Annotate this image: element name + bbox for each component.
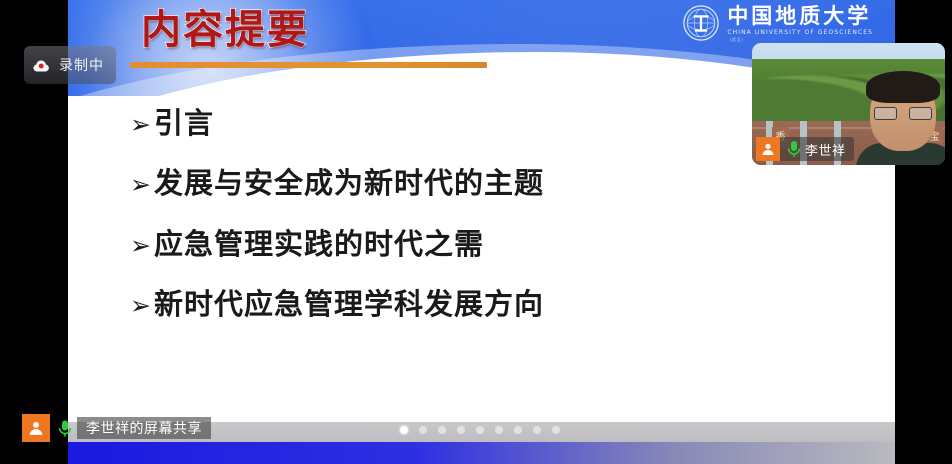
microphone-icon <box>786 140 802 158</box>
self-view-name-plate: 李世祥 <box>756 137 854 161</box>
bullet-arrow-icon: ➢ <box>130 233 151 258</box>
university-crest-icon <box>682 4 720 42</box>
bullet-arrow-icon: ➢ <box>130 293 151 318</box>
list-item-label: 应急管理实践的时代之需 <box>154 229 484 259</box>
list-item: ➢ 应急管理实践的时代之需 <box>130 229 850 259</box>
video-participant-figure <box>860 77 945 165</box>
pager-dot[interactable] <box>438 426 446 434</box>
list-item: ➢ 引言 <box>130 108 850 138</box>
screen-share-label: 李世祥的屏幕共享 <box>77 417 211 439</box>
recording-label: 录制中 <box>59 55 104 75</box>
self-view-participant-name: 李世祥 <box>805 140 854 159</box>
pager-dot[interactable] <box>400 426 408 434</box>
list-item: ➢ 新时代应急管理学科发展方向 <box>130 289 850 319</box>
slide-pager[interactable] <box>400 426 560 434</box>
bullet-arrow-icon: ➢ <box>130 112 151 137</box>
pager-dot[interactable] <box>514 426 522 434</box>
bullet-list: ➢ 引言 ➢ 发展与安全成为新时代的主题 ➢ 应急管理实践的时代之需 ➢ 新时代… <box>130 108 850 350</box>
title-underline <box>130 62 487 68</box>
list-item-label: 新时代应急管理学科发展方向 <box>154 289 544 319</box>
pager-dot[interactable] <box>476 426 484 434</box>
screen-share-indicator[interactable]: 李世祥的屏幕共享 <box>22 414 211 442</box>
list-item-label: 引言 <box>154 108 214 138</box>
bullet-arrow-icon: ➢ <box>130 172 151 197</box>
university-name-cn: 中国地质大学 <box>727 5 873 26</box>
university-name-en-sub: （武汉） <box>727 38 873 42</box>
meeting-viewer: 中国地质大学 CHINA UNIVERSITY OF GEOSCIENCES （… <box>0 0 952 464</box>
pager-dot[interactable] <box>495 426 503 434</box>
pager-dot[interactable] <box>552 426 560 434</box>
university-logo: 中国地质大学 CHINA UNIVERSITY OF GEOSCIENCES （… <box>682 4 873 42</box>
record-cloud-icon <box>32 58 52 73</box>
list-item-label: 发展与安全成为新时代的主题 <box>154 168 544 198</box>
page-title: 内容提要 <box>141 7 309 54</box>
pager-dot[interactable] <box>457 426 465 434</box>
recording-badge[interactable]: 录制中 <box>24 46 116 84</box>
self-view-video-tile[interactable]: 秀 秀 宝 李世祥 <box>752 43 945 165</box>
university-name-en: CHINA UNIVERSITY OF GEOSCIENCES <box>727 30 873 36</box>
person-avatar-icon <box>22 414 50 442</box>
footer-blue-band <box>68 442 895 464</box>
pager-dot[interactable] <box>533 426 541 434</box>
pager-dot[interactable] <box>419 426 427 434</box>
video-participant-glasses <box>874 107 932 120</box>
video-participant-hair <box>866 71 940 103</box>
microphone-icon <box>57 419 73 438</box>
person-avatar-icon <box>756 137 780 161</box>
list-item: ➢ 发展与安全成为新时代的主题 <box>130 168 850 198</box>
